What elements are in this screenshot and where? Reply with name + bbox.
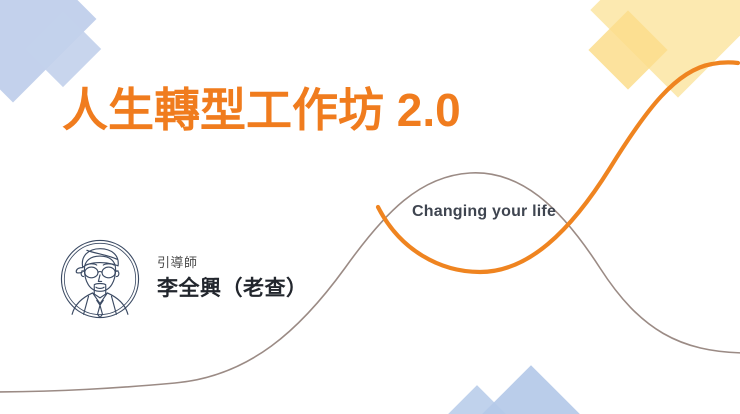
diamond-blue-top-left-small [25,11,101,87]
speaker-block: 引導師 李全興（老查） [59,238,308,320]
tagline-text: Changing your life [412,203,556,221]
speaker-role-label: 引導師 [157,255,308,272]
diamond-blue-bottom-large [470,365,592,414]
speaker-text-block: 引導師 李全興（老查） [157,255,308,303]
diamond-blue-bottom-small [433,385,521,414]
speaker-name: 李全興（老查） [157,275,308,303]
presentation-title-slide: 人生轉型工作坊 2.0 Changing your life [0,0,740,414]
diamond-yellow-top-right-large [590,0,740,98]
diamond-yellow-top-right-small [588,10,667,89]
portrait-line-art-icon [59,238,141,320]
decorative-curves [0,0,740,414]
page-title: 人生轉型工作坊 2.0 [62,84,461,137]
